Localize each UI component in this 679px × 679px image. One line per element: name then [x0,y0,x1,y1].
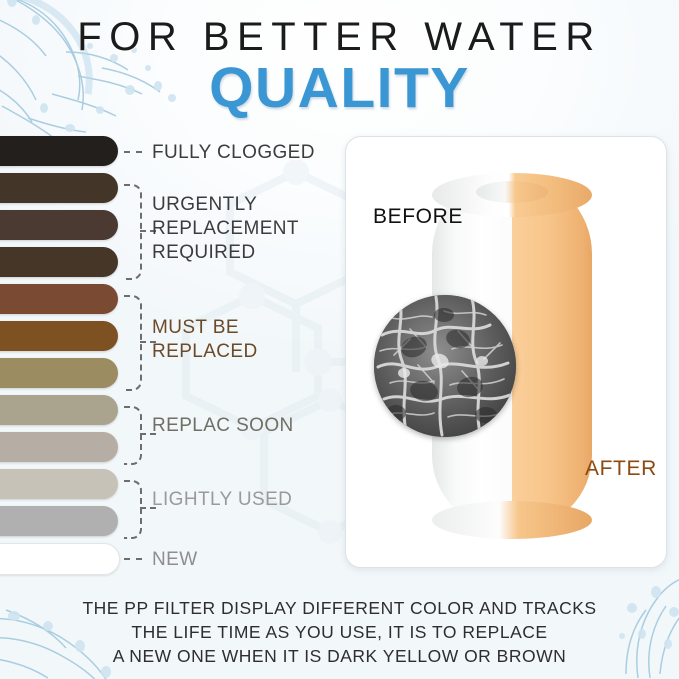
caption-line-3: A NEW ONE WHEN IT IS DARK YELLOW OR BROW… [0,644,679,668]
legend-label-fully-clogged: FULLY CLOGGED [152,141,315,165]
connector-must-be-replaced [124,295,142,391]
connector-urgently-replacement [124,184,142,280]
product-comparison-card: BEFORE AFTER [345,136,667,568]
swatch-must-replace-2 [0,321,118,351]
connector-new [124,558,142,560]
legend-label-must-be-replaced: MUST BE REPLACED [152,316,258,364]
header: FOR BETTER WATER QUALITY [0,0,679,128]
connector-lightly-used [124,480,142,539]
swatch-fully-clogged [0,136,118,166]
caption-line-1: THE PP FILTER DISPLAY DIFFERENT COLOR AN… [0,596,679,620]
footer-caption: THE PP FILTER DISPLAY DIFFERENT COLOR AN… [0,596,679,668]
cartridge-top-inner-ellipse [476,181,548,203]
swatch-must-replace-1 [0,284,118,314]
infographic-canvas: FOR BETTER WATER QUALITY FULLY CLOGGED U… [0,0,679,679]
page-title-line1: FOR BETTER WATER [0,14,679,60]
swatch-urgent-1 [0,173,118,203]
before-label: BEFORE [373,205,463,229]
swatch-new-gray [0,506,118,536]
swatch-replace-soon-2 [0,395,118,425]
microscope-fiber-inset [374,295,516,437]
legend-label-lightly-used: LIGHTLY USED [152,488,292,512]
swatch-new [0,543,120,575]
after-label: AFTER [585,457,657,481]
swatch-urgent-3 [0,247,118,277]
cartridge-after-half [512,174,592,529]
page-title-line2: QUALITY [0,57,679,119]
swatch-lightly-used-2 [0,469,118,499]
swatch-replace-soon-1 [0,358,118,388]
legend-label-urgently-replacement-required: URGENTLY REPLACEMENT REQUIRED [152,193,299,265]
legend-label-replac-soon: REPLAC SOON [152,414,294,438]
legend-label-new: NEW [152,548,198,572]
swatch-urgent-2 [0,210,118,240]
color-swatch-legend: FULLY CLOGGED URGENTLY REPLACEMENT REQUI… [0,136,340,576]
connector-replac-soon [124,406,142,465]
cartridge-bottom-ellipse [432,501,592,539]
swatch-lightly-used-1 [0,432,118,462]
connector-fully-clogged [124,151,142,153]
caption-line-2: THE LIFE TIME AS YOU USE, IT IS TO REPLA… [0,620,679,644]
